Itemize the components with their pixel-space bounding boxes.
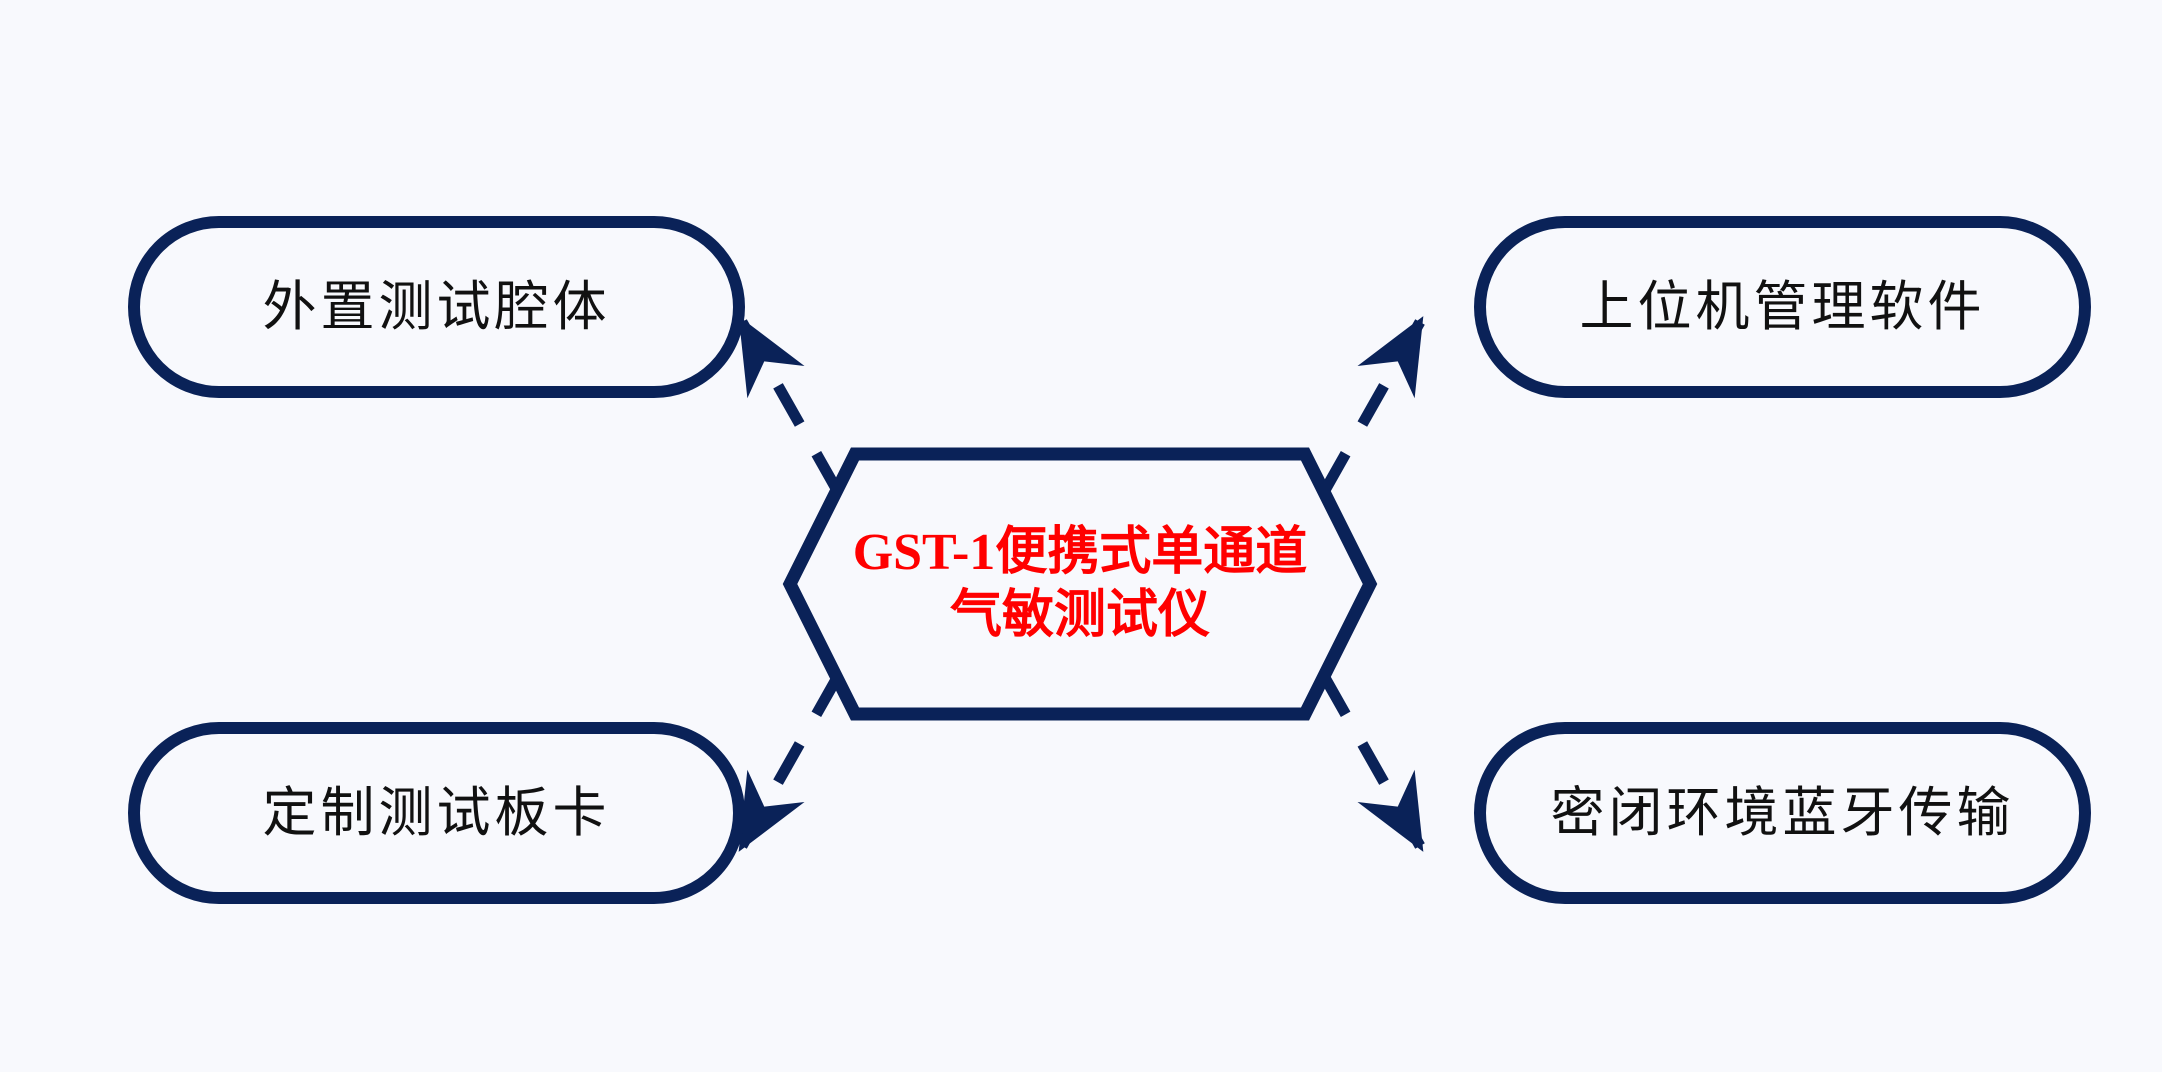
connector-to-top-left bbox=[742, 322, 838, 492]
connector-to-bottom-right bbox=[1324, 676, 1420, 846]
node-shape-bottom-left[interactable] bbox=[134, 728, 739, 898]
node-shape-top-left[interactable] bbox=[134, 222, 739, 392]
center-hexagon-shape[interactable] bbox=[790, 454, 1370, 714]
diagram-graphics bbox=[0, 0, 2162, 1072]
connector-to-top-right bbox=[1324, 322, 1420, 492]
node-shape-bottom-right[interactable] bbox=[1480, 728, 2085, 898]
node-shape-top-right[interactable] bbox=[1480, 222, 2085, 392]
diagram-canvas: 外置测试腔体 上位机管理软件 定制测试板卡 密闭环境蓝牙传输 GST-1便携式单… bbox=[0, 0, 2162, 1072]
connector-to-bottom-left bbox=[742, 676, 838, 846]
